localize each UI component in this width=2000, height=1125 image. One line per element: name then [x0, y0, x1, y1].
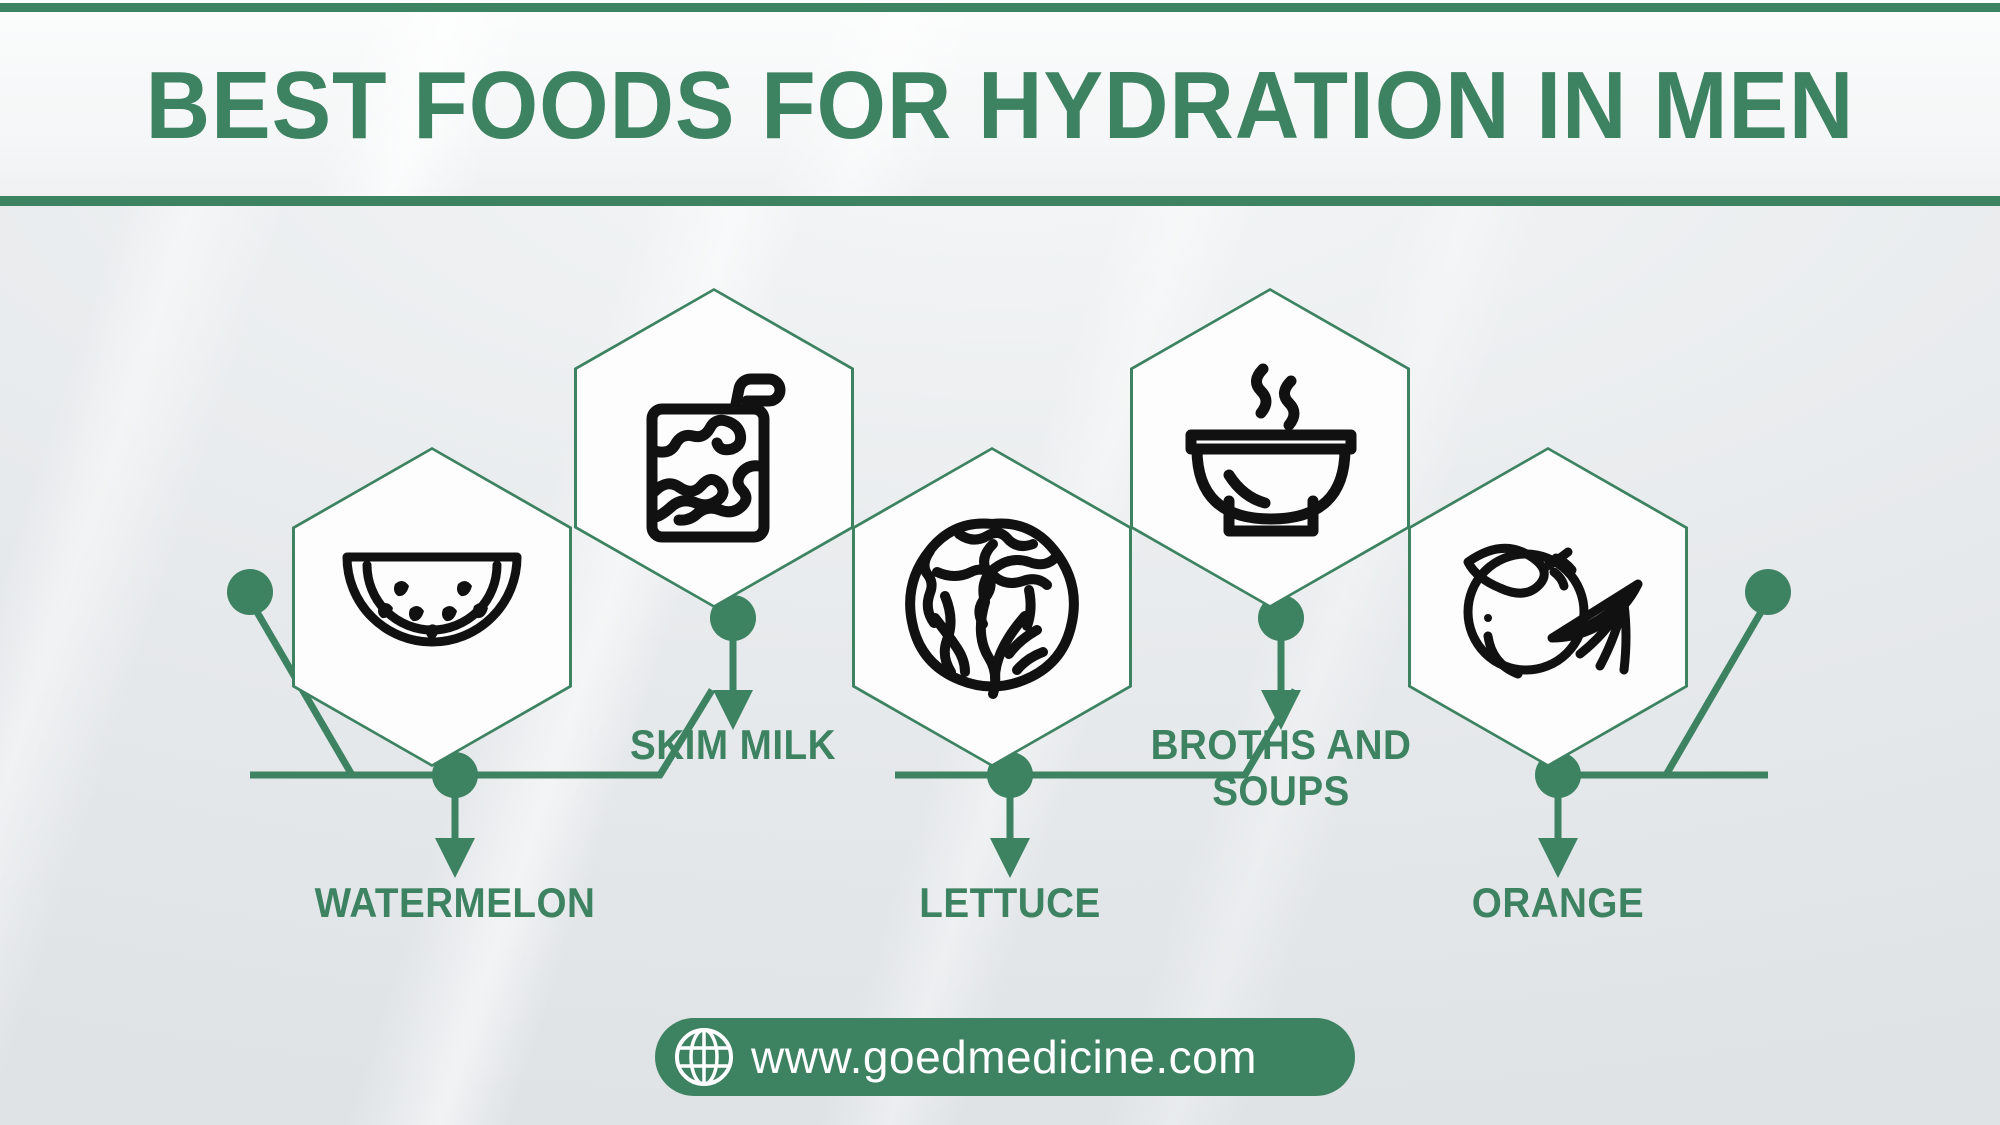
orange-with-slice-icon	[1448, 520, 1648, 695]
website-url: www.goedmedicine.com	[751, 1030, 1257, 1084]
milk-carton-with-straw-icon	[627, 351, 802, 546]
globe-icon	[673, 1026, 735, 1088]
connector-dot-left-edge	[227, 569, 273, 615]
arrowhead-orange	[1538, 838, 1578, 878]
connector-dot-right-edge	[1745, 569, 1791, 615]
watermelon-slice-icon	[337, 532, 527, 682]
lettuce-head-icon	[897, 512, 1087, 702]
steaming-soup-bowl-icon	[1173, 353, 1368, 543]
website-pill[interactable]: www.goedmedicine.com	[655, 1018, 1355, 1096]
label-lettuce: LETTUCE	[826, 880, 1194, 926]
arrowhead-watermelon	[435, 838, 475, 878]
arrowhead-lettuce	[990, 838, 1030, 878]
label-broths-and-soups: BROTHS AND SOUPS	[1097, 722, 1465, 814]
label-skim-milk: SKIM MILK	[549, 722, 917, 768]
label-orange: ORANGE	[1374, 880, 1742, 926]
label-watermelon: WATERMELON	[271, 880, 639, 926]
infographic-canvas: BEST FOODS FOR HYDRATION IN MEN	[0, 0, 2000, 1125]
